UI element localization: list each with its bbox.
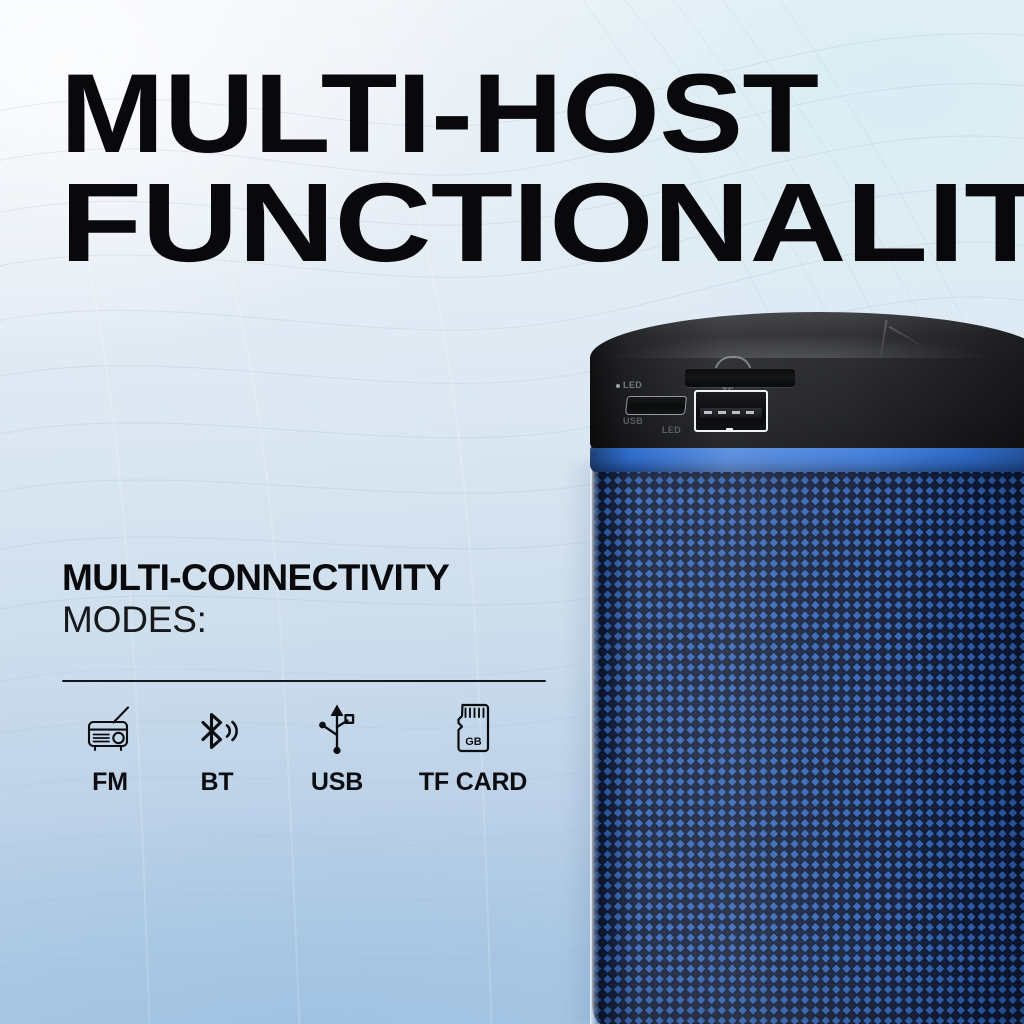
mesh-vertical-shading (592, 444, 1024, 1024)
usb-icon (314, 702, 360, 756)
usb-a-bottom-notch (726, 428, 733, 432)
connectivity-title-regular: MODES: (62, 599, 562, 640)
usb-a-contact-pins (704, 411, 758, 414)
bluetooth-icon (192, 702, 242, 756)
mode-item-tf-card: GB TF CARD (398, 702, 548, 797)
usb-port-label: USB (623, 416, 643, 426)
microsd-card-icon: GB (450, 702, 496, 756)
cap-shading (590, 312, 1024, 448)
led-indicator-label: LED (623, 380, 642, 390)
speaker-top-cap: TF LED USB LED (590, 312, 1024, 448)
connectivity-block: MULTI-CONNECTIVITY MODES: (62, 558, 562, 797)
connectivity-modes-row: FM BT (62, 702, 562, 797)
mode-label-tf-card: TF CARD (419, 768, 527, 797)
led-secondary-label: LED (662, 425, 681, 435)
section-divider (62, 680, 546, 682)
poster-canvas: MULTI-HOST FUNCTIONALITY MULTI-CONNECTIV… (0, 0, 1024, 1024)
mode-label-fm: FM (92, 768, 128, 797)
mode-item-bt: BT (158, 702, 276, 797)
usb-a-port[interactable] (694, 390, 768, 432)
tf-card-slot[interactable] (685, 368, 795, 387)
mode-label-usb: USB (311, 768, 363, 797)
mode-item-usb: USB (276, 702, 398, 797)
speaker-mesh-grille (592, 444, 1024, 1024)
microsd-gb-text: GB (465, 736, 482, 748)
mode-label-bt: BT (201, 768, 234, 797)
radio-icon (84, 702, 136, 756)
speaker-left-edge-highlight (590, 446, 599, 1024)
mode-item-fm: FM (62, 702, 158, 797)
connectivity-title-bold: MULTI-CONNECTIVITY (62, 558, 562, 597)
product-bluetooth-speaker: TF LED USB LED (590, 312, 1024, 1024)
micro-usb-charging-port[interactable] (625, 396, 687, 415)
